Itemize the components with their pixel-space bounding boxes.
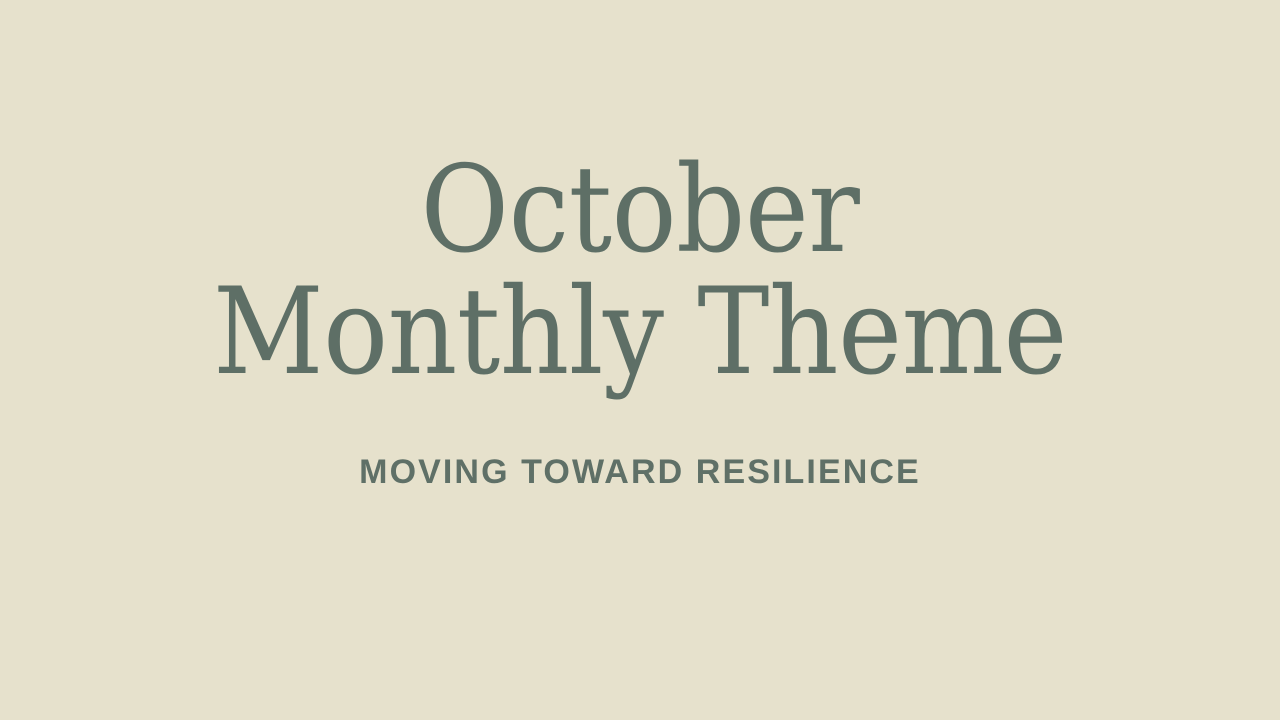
- title-line-month: October: [64, 150, 1216, 272]
- page-title: October Monthly Theme: [64, 150, 1216, 394]
- title-slide: October Monthly Theme MOVING TOWARD RESI…: [0, 0, 1280, 720]
- slide-subtitle: MOVING TOWARD RESILIENCE: [0, 452, 1280, 492]
- title-line-theme: Monthly Theme: [64, 272, 1216, 394]
